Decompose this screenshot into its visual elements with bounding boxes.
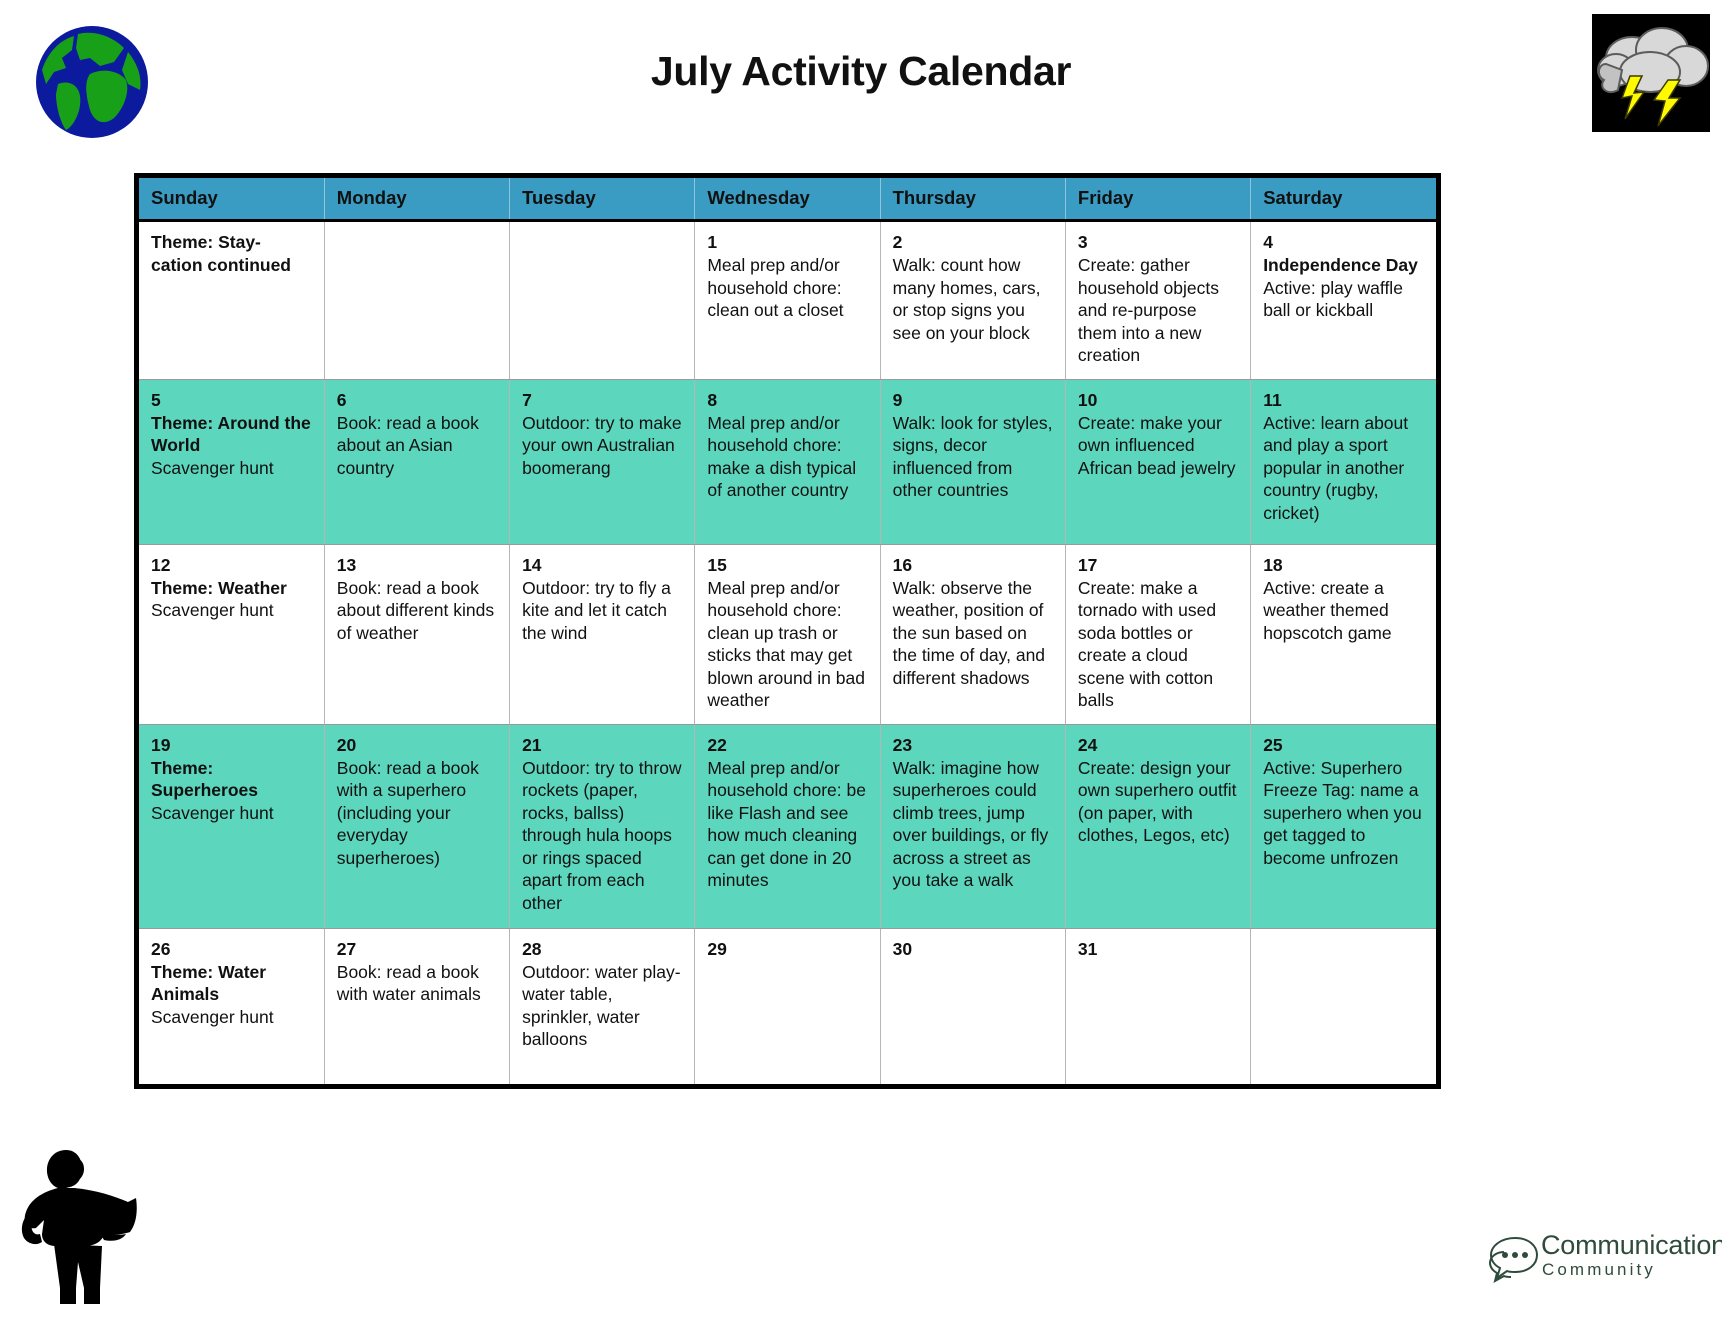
calendar-day-cell[interactable]: 8Meal prep and/or household chore: make … — [695, 379, 880, 544]
day-theme: Theme: Stay-cation continued — [151, 231, 312, 276]
day-activity: Create: make a tornado with used soda bo… — [1078, 577, 1238, 712]
day-number: 4 — [1263, 231, 1424, 253]
calendar-day-cell[interactable]: 2Walk: count how many homes, cars, or st… — [880, 221, 1065, 380]
calendar-day-cell[interactable]: 3Create: gather household objects and re… — [1065, 221, 1250, 380]
calendar-day-cell[interactable]: 15Meal prep and/or household chore: clea… — [695, 544, 880, 724]
day-number: 9 — [893, 389, 1053, 411]
day-number: 17 — [1078, 554, 1238, 576]
column-header-sunday: Sunday — [139, 178, 324, 221]
day-number: 3 — [1078, 231, 1238, 253]
brand-logo: Communication Community — [1487, 1230, 1702, 1292]
calendar-day-cell[interactable]: 7Outdoor: try to make your own Australia… — [510, 379, 695, 544]
day-activity: Create: make your own influenced African… — [1078, 412, 1238, 480]
calendar-day-cell[interactable]: 6Book: read a book about an Asian countr… — [324, 379, 509, 544]
speech-bubbles-icon — [1487, 1230, 1541, 1286]
column-header-monday: Monday — [324, 178, 509, 221]
brand-name-line2: Community — [1542, 1260, 1722, 1279]
day-activity: Active: learn about and play a sport pop… — [1263, 412, 1424, 525]
calendar-day-cell[interactable]: 10Create: make your own influenced Afric… — [1065, 379, 1250, 544]
calendar-day-cell[interactable]: 9Walk: look for styles, signs, decor inf… — [880, 379, 1065, 544]
calendar-table: Sunday Monday Tuesday Wednesday Thursday… — [139, 178, 1436, 1084]
superhero-silhouette-icon — [18, 1138, 144, 1306]
calendar-week-row: 26Theme: Water AnimalsScavenger hunt27Bo… — [139, 928, 1436, 1084]
day-theme: Theme: Weather — [151, 577, 312, 600]
day-activity: Book: read a book about an Asian country — [337, 412, 497, 480]
day-number: 25 — [1263, 734, 1424, 756]
calendar-day-cell[interactable]: 21Outdoor: try to throw rockets (paper, … — [510, 724, 695, 928]
column-header-thursday: Thursday — [880, 178, 1065, 221]
day-activity: Scavenger hunt — [151, 802, 312, 825]
day-activity: Walk: count how many homes, cars, or sto… — [893, 254, 1053, 344]
calendar-day-cell[interactable]: 23Walk: imagine how superheroes could cl… — [880, 724, 1065, 928]
calendar-day-cell[interactable]: 30 — [880, 928, 1065, 1084]
calendar-day-cell[interactable]: 11Active: learn about and play a sport p… — [1251, 379, 1436, 544]
calendar-day-cell[interactable]: Theme: Stay-cation continued — [139, 221, 324, 380]
day-activity: Outdoor: try to fly a kite and let it ca… — [522, 577, 682, 645]
calendar-day-cell[interactable] — [510, 221, 695, 380]
day-activity: Outdoor: try to make your own Australian… — [522, 412, 682, 480]
day-number: 31 — [1078, 938, 1238, 960]
calendar-day-cell[interactable]: 26Theme: Water AnimalsScavenger hunt — [139, 928, 324, 1084]
day-number: 28 — [522, 938, 682, 960]
day-activity: Meal prep and/or household chore: clean … — [707, 577, 867, 712]
day-theme: Theme: Around the World — [151, 412, 312, 457]
day-activity: Book: read a book with water animals — [337, 961, 497, 1006]
day-number: 10 — [1078, 389, 1238, 411]
day-number: 24 — [1078, 734, 1238, 756]
day-activity: Active: Superhero Freeze Tag: name a sup… — [1263, 757, 1424, 870]
column-header-tuesday: Tuesday — [510, 178, 695, 221]
calendar-day-cell[interactable]: 13Book: read a book about different kind… — [324, 544, 509, 724]
day-activity: Meal prep and/or household chore: make a… — [707, 412, 867, 502]
day-theme: Theme: Superheroes — [151, 757, 312, 802]
day-activity: Outdoor: try to throw rockets (paper, ro… — [522, 757, 682, 915]
day-number: 8 — [707, 389, 867, 411]
day-number: 27 — [337, 938, 497, 960]
calendar-day-cell[interactable]: 1Meal prep and/or household chore: clean… — [695, 221, 880, 380]
day-activity: Meal prep and/or household chore: be lik… — [707, 757, 867, 892]
day-activity: Outdoor: water play- water table, sprink… — [522, 961, 682, 1051]
calendar-day-cell[interactable]: 16Walk: observe the weather, position of… — [880, 544, 1065, 724]
column-header-wednesday: Wednesday — [695, 178, 880, 221]
calendar-week-row: 12Theme: WeatherScavenger hunt13Book: re… — [139, 544, 1436, 724]
day-number: 1 — [707, 231, 867, 253]
page-header: July Activity Calendar — [0, 0, 1722, 160]
calendar-week-row: Theme: Stay-cation continued1Meal prep a… — [139, 221, 1436, 380]
calendar-day-cell[interactable]: 12Theme: WeatherScavenger hunt — [139, 544, 324, 724]
calendar-header-row: Sunday Monday Tuesday Wednesday Thursday… — [139, 178, 1436, 221]
calendar-day-cell[interactable] — [324, 221, 509, 380]
day-number: 26 — [151, 938, 312, 960]
calendar-day-cell[interactable]: 18Active: create a weather themed hopsco… — [1251, 544, 1436, 724]
day-activity: Create: design your own superhero outfit… — [1078, 757, 1238, 847]
day-number: 2 — [893, 231, 1053, 253]
day-number: 21 — [522, 734, 682, 756]
day-number: 20 — [337, 734, 497, 756]
day-number: 18 — [1263, 554, 1424, 576]
day-activity: Active: create a weather themed hopscotc… — [1263, 577, 1424, 645]
calendar-day-cell[interactable]: 24Create: design your own superhero outf… — [1065, 724, 1250, 928]
calendar-day-cell[interactable]: 20Book: read a book with a superhero (in… — [324, 724, 509, 928]
day-number: 30 — [893, 938, 1053, 960]
day-number: 6 — [337, 389, 497, 411]
day-activity: Book: read a book about different kinds … — [337, 577, 497, 645]
day-number: 13 — [337, 554, 497, 576]
calendar-day-cell[interactable]: 22Meal prep and/or household chore: be l… — [695, 724, 880, 928]
day-number: 22 — [707, 734, 867, 756]
calendar-day-cell[interactable]: 4Independence DayActive: play waffle bal… — [1251, 221, 1436, 380]
storm-cloud-icon — [1592, 14, 1710, 132]
calendar-day-cell[interactable]: 31 — [1065, 928, 1250, 1084]
day-number: 11 — [1263, 389, 1424, 411]
calendar-day-cell[interactable]: 27Book: read a book with water animals — [324, 928, 509, 1084]
calendar-day-cell[interactable]: 17Create: make a tornado with used soda … — [1065, 544, 1250, 724]
day-activity: Walk: observe the weather, position of t… — [893, 577, 1053, 690]
calendar-week-row: 19Theme: SuperheroesScavenger hunt20Book… — [139, 724, 1436, 928]
day-activity: Meal prep and/or household chore: clean … — [707, 254, 867, 322]
calendar-day-cell[interactable]: 29 — [695, 928, 880, 1084]
day-theme: Theme: Water Animals — [151, 961, 312, 1006]
day-activity: Book: read a book with a superhero (incl… — [337, 757, 497, 870]
column-header-saturday: Saturday — [1251, 178, 1436, 221]
column-header-friday: Friday — [1065, 178, 1250, 221]
day-activity: Scavenger hunt — [151, 1006, 312, 1029]
day-number: 23 — [893, 734, 1053, 756]
calendar-day-cell[interactable]: 5Theme: Around the WorldScavenger hunt — [139, 379, 324, 544]
day-number: 15 — [707, 554, 867, 576]
day-number: 5 — [151, 389, 312, 411]
day-activity: Scavenger hunt — [151, 599, 312, 622]
brand-name-line1: Communication — [1541, 1232, 1722, 1259]
day-number: 29 — [707, 938, 867, 960]
day-number: 7 — [522, 389, 682, 411]
day-number: 16 — [893, 554, 1053, 576]
page-title: July Activity Calendar — [0, 48, 1722, 95]
day-number: 12 — [151, 554, 312, 576]
activity-calendar: Sunday Monday Tuesday Wednesday Thursday… — [134, 173, 1441, 1089]
day-activity: Walk: look for styles, signs, decor infl… — [893, 412, 1053, 502]
day-theme: Independence Day — [1263, 254, 1424, 277]
calendar-day-cell[interactable]: 25Active: Superhero Freeze Tag: name a s… — [1251, 724, 1436, 928]
calendar-day-cell[interactable]: 28Outdoor: water play- water table, spri… — [510, 928, 695, 1084]
calendar-day-cell[interactable]: 14Outdoor: try to fly a kite and let it … — [510, 544, 695, 724]
calendar-week-row: 5Theme: Around the WorldScavenger hunt6B… — [139, 379, 1436, 544]
day-activity: Walk: imagine how superheroes could clim… — [893, 757, 1053, 892]
calendar-day-cell[interactable] — [1251, 928, 1436, 1084]
day-number: 19 — [151, 734, 312, 756]
day-number: 14 — [522, 554, 682, 576]
calendar-day-cell[interactable]: 19Theme: SuperheroesScavenger hunt — [139, 724, 324, 928]
day-activity: Active: play waffle ball or kickball — [1263, 277, 1424, 322]
day-activity: Create: gather household objects and re-… — [1078, 254, 1238, 367]
day-activity: Scavenger hunt — [151, 457, 312, 480]
